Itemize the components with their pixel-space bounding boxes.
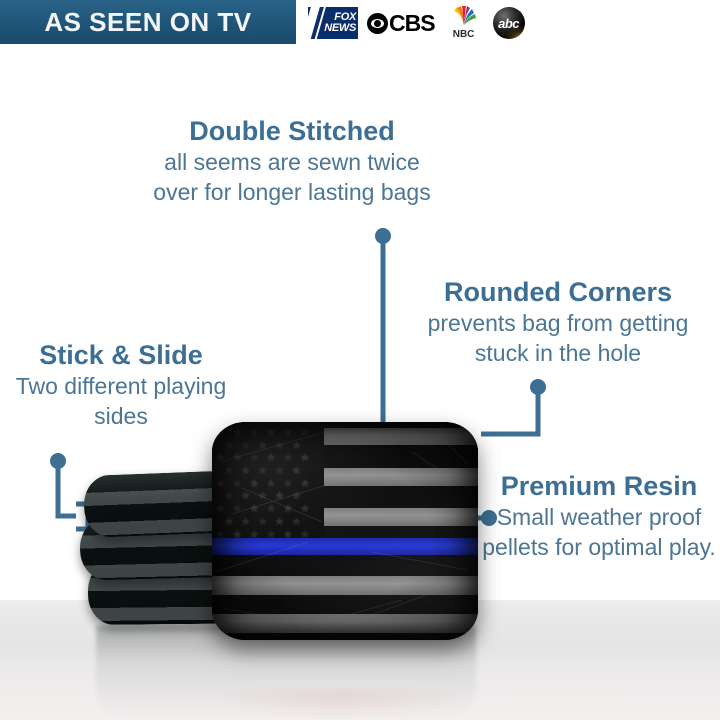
nbc-logo: NBC [444,6,484,40]
callout-rounded-corners: Rounded Corners prevents bag from gettin… [400,277,716,368]
infographic-stage: ★★★★★★★★★★★★★★★★★★★★★★★★★★★★★★★★★★★★★★★★… [0,0,720,720]
flag-star-icon: ★ [224,517,234,528]
flag-star-icon: ★ [249,504,259,515]
banner-text: AS SEEN ON TV [44,7,251,38]
callout-body: all seems are sewn twice over for longer… [146,147,438,207]
callout-body: prevents bag from getting stuck in the h… [400,308,716,368]
cbs-eye-icon [367,13,388,34]
flag-star-icon: ★ [241,491,251,502]
abc-logo: abc [493,7,525,39]
callout-stick-slide: Stick & Slide Two different playing side… [6,340,236,431]
flag-star-icon: ★ [292,466,302,477]
flag-star-icon: ★ [300,479,310,490]
callout-double-stitched: Double Stitched all seems are sewn twice… [146,116,438,207]
flag-star-icon: ★ [283,479,293,490]
flag-star-icon: ★ [300,428,310,439]
flag-star-icon: ★ [266,453,276,464]
flag-star-icon: ★ [215,504,225,515]
as-seen-on-tv-banner: AS SEEN ON TV [0,0,296,44]
flag-star-icon: ★ [224,441,234,452]
callout-title: Double Stitched [146,116,438,147]
flag-star-icon: ★ [292,441,302,452]
abc-logo-text: abc [498,16,519,31]
flag-star-icon: ★ [275,517,285,528]
flag-star-icon: ★ [232,453,242,464]
flag-star-icon: ★ [241,466,251,477]
thin-blue-line-flag-bag: ★★★★★★★★★★★★★★★★★★★★★★★★★★★★★★★★★★★★★★★★… [212,422,478,640]
flag-stripe [324,468,478,486]
flag-star-icon: ★ [215,453,225,464]
flag-stripe [324,428,478,445]
flag-star-icon: ★ [266,428,276,439]
flag-star-icon: ★ [292,517,302,528]
callout-title: Premium Resin [482,471,716,502]
flag-star-icon: ★ [283,453,293,464]
flag-star-icon: ★ [258,517,268,528]
flag-star-icon: ★ [224,491,234,502]
flag-star-icon: ★ [283,428,293,439]
callout-body: Small weather proof pellets for optimal … [482,502,716,562]
flag-stripe [212,576,478,595]
flag-star-icon: ★ [275,441,285,452]
flag-star-icon: ★ [232,479,242,490]
cbs-logo-text: CBS [389,12,435,35]
flag-graphic: ★★★★★★★★★★★★★★★★★★★★★★★★★★★★★★★★★★★★★★★★… [212,422,478,640]
flag-star-icon: ★ [232,428,242,439]
flag-stripe [212,614,478,633]
flag-star-icon: ★ [241,441,251,452]
flag-star-icon: ★ [215,479,225,490]
flag-star-icon: ★ [249,428,259,439]
flag-star-icon: ★ [249,479,259,490]
flag-star-icon: ★ [258,441,268,452]
flag-star-icon: ★ [249,453,259,464]
network-logo-row: FOX NEWS CBS NBC abc [308,5,525,41]
callout-body: Two different playing sides [6,371,236,431]
flag-star-icon: ★ [258,491,268,502]
flag-star-icon: ★ [215,428,225,439]
flag-star-icon: ★ [266,504,276,515]
bag-reflection-warm [214,690,464,720]
flag-star-icon: ★ [275,491,285,502]
fox-news-logo: FOX NEWS [308,7,358,39]
flag-star-icon: ★ [232,504,242,515]
flag-star-icon: ★ [300,504,310,515]
callout-premium-resin: Premium Resin Small weather proof pellet… [482,471,716,562]
thin-blue-line [212,538,478,555]
flag-star-icon: ★ [300,453,310,464]
flag-star-icon: ★ [292,491,302,502]
fox-logo-line2: NEWS [324,23,356,34]
flag-star-icon: ★ [275,466,285,477]
flag-star-icon: ★ [258,466,268,477]
nbc-logo-text: NBC [453,29,475,40]
flag-canton: ★★★★★★★★★★★★★★★★★★★★★★★★★★★★★★★★★★★★★★★★… [212,422,324,540]
flag-star-icon: ★ [266,479,276,490]
cbs-logo: CBS [367,12,435,35]
callout-title: Stick & Slide [6,340,236,371]
flag-star-icon: ★ [283,504,293,515]
flag-stripe [324,508,478,526]
callout-title: Rounded Corners [400,277,716,308]
nbc-peacock-icon [451,6,477,26]
flag-star-icon: ★ [224,466,234,477]
flag-star-icon: ★ [241,517,251,528]
